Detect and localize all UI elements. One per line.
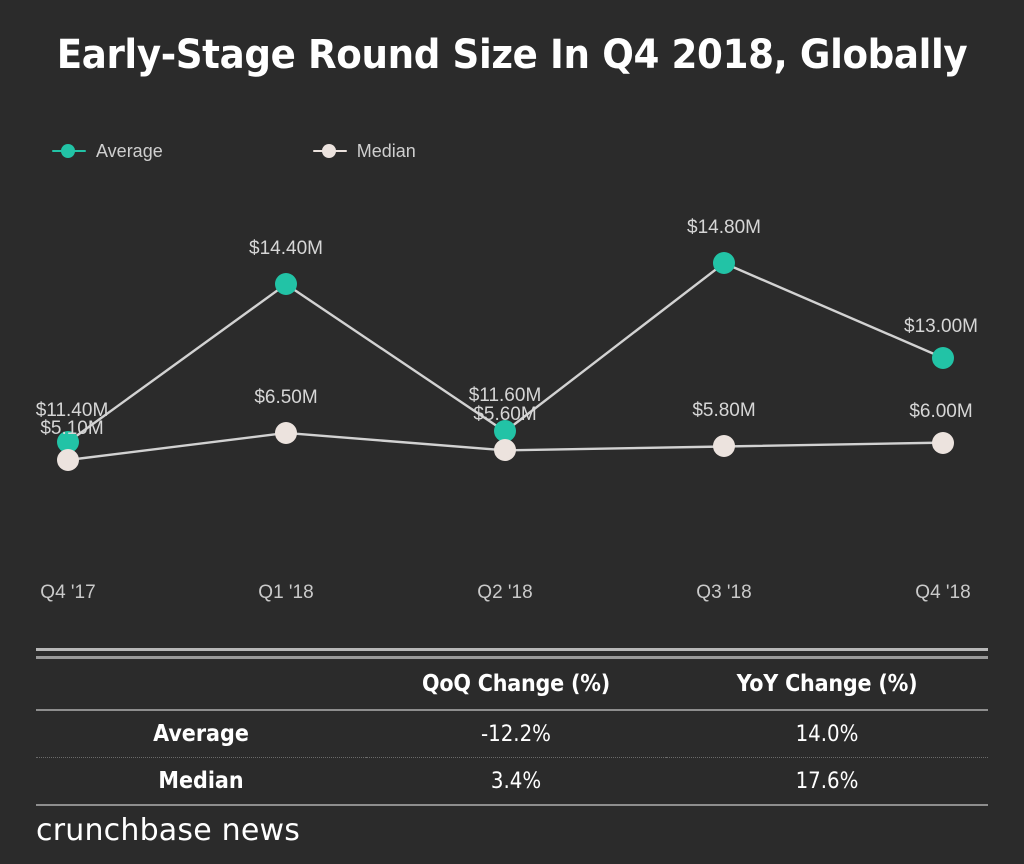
data-point-median-4[interactable] [932, 432, 954, 454]
table-cell-average-yoy: 14.0% [666, 710, 988, 758]
x-axis-label-4: Q4 '18 [915, 582, 970, 604]
data-point-median-0[interactable] [57, 449, 79, 471]
legend-label-median: Median [357, 141, 416, 162]
data-point-median-2[interactable] [494, 439, 516, 461]
table-cell-average-qoq: -12.2% [366, 710, 666, 758]
data-label-average-1: $14.40M [249, 238, 323, 260]
data-point-median-1[interactable] [275, 422, 297, 444]
chart-card: Early-Stage Round Size In Q4 2018, Globa… [0, 0, 1024, 864]
data-point-average-1[interactable] [275, 273, 297, 295]
chart-legend: Average Median [52, 138, 416, 164]
data-label-median-4: $6.00M [909, 401, 972, 423]
table-header-blank [36, 659, 366, 710]
legend-item-median[interactable]: Median [313, 138, 416, 164]
table-row-label-average: Average [36, 710, 366, 758]
table-cell-median-qoq: 3.4% [366, 758, 666, 806]
x-axis-label-2: Q2 '18 [477, 582, 532, 604]
data-point-average-4[interactable] [932, 347, 954, 369]
line-dot-marker-icon [313, 144, 347, 158]
page-title: Early-Stage Round Size In Q4 2018, Globa… [36, 32, 988, 78]
x-axis-label-3: Q3 '18 [696, 582, 751, 604]
table-row: Average -12.2% 14.0% [36, 710, 988, 758]
legend-item-average[interactable]: Average [52, 138, 163, 164]
data-label-median-3: $5.80M [692, 400, 755, 422]
table-header-qoq: QoQ Change (%) [366, 659, 666, 710]
table-row-label-median: Median [36, 758, 366, 806]
table-header-row: QoQ Change (%) YoY Change (%) [36, 659, 988, 710]
brand-wordmark: crunchbase news [36, 813, 300, 848]
stats-table: QoQ Change (%) YoY Change (%) Average -1… [36, 659, 988, 806]
data-label-median-0: $5.10M [40, 418, 103, 440]
stats-table-container: QoQ Change (%) YoY Change (%) Average -1… [36, 648, 988, 806]
data-label-median-1: $6.50M [254, 387, 317, 409]
legend-label-average: Average [96, 141, 163, 162]
x-axis-label-1: Q1 '18 [258, 582, 313, 604]
data-label-median-2: $5.60M [473, 404, 536, 426]
data-point-average-3[interactable] [713, 252, 735, 274]
table-row: Median 3.4% 17.6% [36, 758, 988, 806]
table-cell-median-yoy: 17.6% [666, 758, 988, 806]
line-dot-marker-icon [52, 144, 86, 158]
data-label-average-3: $14.80M [687, 217, 761, 239]
data-point-median-3[interactable] [713, 435, 735, 457]
data-label-average-4: $13.00M [904, 316, 978, 338]
x-axis-label-0: Q4 '17 [40, 582, 95, 604]
table-header-yoy: YoY Change (%) [666, 659, 988, 710]
